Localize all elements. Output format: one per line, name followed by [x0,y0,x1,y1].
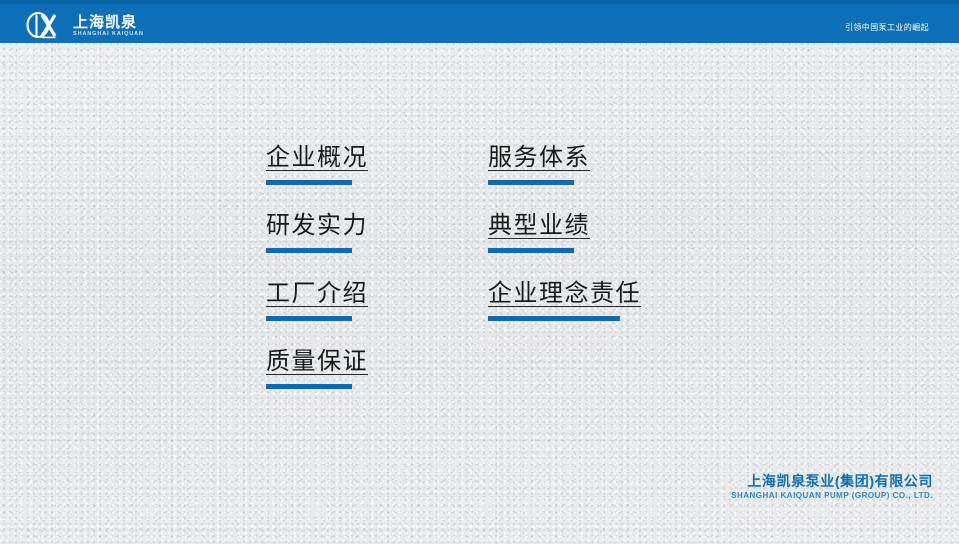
menu-item-label: 研发实力 [266,214,368,238]
menu-item-accent-bar [488,316,620,321]
brand-logo[interactable]: 上海凯泉 SHANGHAI KAIQUAN [22,10,144,42]
menu-item-accent-bar [266,316,352,321]
footer-company-cn: 上海凯泉泵业(集团)有限公司 [731,474,933,488]
slide-canvas: 上海凯泉 SHANGHAI KAIQUAN 引领中国泵工业的崛起 企业概况 研发… [0,0,959,544]
menu-item-label: 典型业绩 [488,214,590,238]
menu-item-typical-performance[interactable]: 典型业绩 [488,214,590,253]
menu-item-label: 企业理念责任 [488,282,641,306]
menu-item-accent-bar [488,180,574,185]
menu-item-rd-strength[interactable]: 研发实力 [266,214,368,253]
footer-company-en: SHANGHAI KAIQUAN PUMP (GROUP) CO., LTD. [731,492,933,500]
brand-name-en: SHANGHAI KAIQUAN [73,32,144,38]
brand-logo-text: 上海凯泉 SHANGHAI KAIQUAN [73,15,144,38]
menu-item-accent-bar [266,384,352,389]
menu-item-label: 质量保证 [266,350,368,374]
menu-item-service-system[interactable]: 服务体系 [488,146,590,185]
menu-item-accent-bar [488,248,574,253]
menu-item-label: 服务体系 [488,146,590,170]
menu-item-company-overview[interactable]: 企业概况 [266,146,368,185]
footer-company-block: 上海凯泉泵业(集团)有限公司 SHANGHAI KAIQUAN PUMP (GR… [731,474,933,500]
menu-item-accent-bar [266,248,352,253]
menu-item-factory-intro[interactable]: 工厂介绍 [266,282,368,321]
menu-item-accent-bar [266,180,352,185]
header-tagline: 引领中国泵工业的崛起 [845,22,929,33]
header-bar: 上海凯泉 SHANGHAI KAIQUAN 引领中国泵工业的崛起 [0,4,959,43]
menu-item-label: 工厂介绍 [266,282,368,306]
kaiquan-logo-icon [22,11,66,41]
brand-name-cn: 上海凯泉 [73,15,144,30]
menu-item-quality-assurance[interactable]: 质量保证 [266,350,368,389]
menu-item-label: 企业概况 [266,146,368,170]
menu-item-corporate-philosophy[interactable]: 企业理念责任 [488,282,641,321]
